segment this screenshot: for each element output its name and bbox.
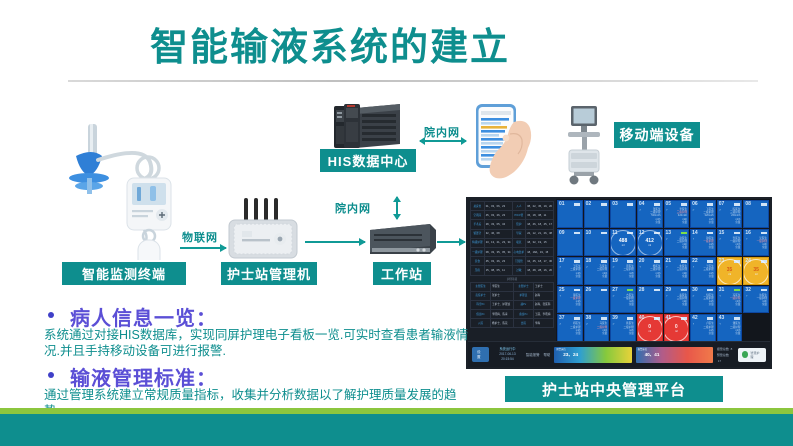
battery-icon — [601, 317, 607, 320]
bed-cell[interactable]: 25♀黄医生一级护理ml/h余量 — [557, 286, 583, 314]
link-label-iot: 物联网 — [182, 229, 218, 245]
gender-icon: ♂ — [612, 265, 615, 269]
bottom-teal-band — [0, 414, 793, 446]
patient-summary-table: 总床位01、03、06、23入人08、22、45、19、20空闲床45、03、2… — [470, 201, 554, 276]
table-cell: 18、32、19、15 — [526, 238, 554, 247]
table-row: 手术后28、33、05、34陪护18、46、18、45、17 — [471, 220, 554, 229]
bed-detail-lines: 卢医生二级护理ml/h余量 — [703, 322, 713, 335]
table-cell: 18、46、18、45、17 — [526, 220, 554, 229]
bed-detail-line: 余量 — [730, 303, 740, 306]
table-cell: 心电监护 — [512, 247, 526, 256]
bed-number: 38 — [586, 315, 592, 322]
table-cell: PICC管 — [512, 211, 526, 220]
bed-cell[interactable]: 30♂何医生三级护理ml/h余量 — [690, 286, 716, 314]
bed-cell[interactable]: 19♂周医生二级护理ml/h余量 — [610, 257, 636, 285]
battery-icon — [707, 317, 713, 320]
battery-icon — [627, 317, 633, 320]
table-cell: 责任护士 — [471, 291, 491, 300]
battery-icon — [627, 289, 633, 292]
table-cell: 18、18A、19、15 — [526, 247, 554, 256]
table-cell: 15、18、38、11 — [526, 211, 554, 220]
bed-number: 28 — [639, 287, 645, 294]
bed-number: 21 — [666, 258, 672, 265]
bed-number: 30 — [692, 287, 698, 294]
gender-icon: ♂ — [612, 294, 615, 298]
table-row: 一级护理08、33、35、05、34心电监护18、18A、19、15 — [471, 247, 554, 256]
bed-detail-line: 余量 — [703, 246, 713, 249]
table-row: 空闲床45、03、26、23PICC管15、18、38、11 — [471, 211, 554, 220]
gender-icon: ♂ — [612, 322, 615, 326]
node-label-terminal: 智能监测终端 — [62, 262, 186, 285]
bed-number: 17 — [559, 258, 565, 265]
bed-cell[interactable]: 43♀潘医生二级护理ml/h余量 — [717, 314, 743, 342]
bed-detail-lines: 杨医生二级护理ml/h余量 — [650, 265, 660, 278]
bed-detail-line: 余量 — [730, 246, 740, 249]
bed-detail-line: 余量 — [677, 221, 687, 224]
table-cell: 科室Pv — [471, 300, 491, 309]
table-cell: 45、03、26、23 — [484, 257, 512, 266]
bed-cell[interactable]: 42♀卢医生二级护理ml/h余量 — [690, 314, 716, 342]
bed-number: 04 — [639, 201, 645, 208]
bed-number: 20 — [639, 258, 645, 265]
battery-icon — [681, 203, 687, 206]
bed-detail-line: 余量 — [570, 332, 580, 335]
system-timestamp: 系统运行中 2017-06-13 20:15:54 — [493, 347, 522, 362]
bed-detail-line: 余量 — [624, 303, 634, 306]
table-cell: 出院 — [513, 319, 533, 328]
battery-icon — [654, 289, 660, 292]
bed-detail-lines: 马医生二级护理ml/h余量 — [597, 322, 607, 335]
bed-cell[interactable]: 38♂马医生二级护理ml/h余量 — [584, 314, 610, 342]
gender-icon: ♀ — [719, 294, 722, 298]
battery-icon — [627, 203, 633, 206]
bed-cell[interactable]: 28 — [637, 286, 663, 314]
table-cell: 01、03、06、23 — [484, 202, 512, 211]
table-row: 禁食45、03、26、23引流管12、45、18、17、36 — [471, 257, 554, 266]
bed-cell[interactable]: 21♀朱医生三级护理ml/h余量 — [664, 257, 690, 285]
bed-number: 02 — [586, 201, 592, 208]
staff-table: 主管医生李医生主管护士王护士责任护士张护士护理员赵梅科室Pv王护士、护理班副Pv… — [470, 282, 554, 329]
volume-unit: ml — [648, 244, 651, 247]
table-row: 总床位01、03、06、23入人08、22、45、19、20 — [471, 202, 554, 211]
alarm-beds-label: 报警床位 — [638, 348, 648, 351]
table-cell: 23、13、21、23、34 — [484, 238, 512, 247]
bed-cell[interactable]: 22♀于医生三级护理ml/h余量 — [690, 257, 716, 285]
bed-cell[interactable]: 2435ml — [743, 257, 769, 285]
volume-unit: ml — [728, 273, 731, 276]
bed-cell[interactable]: 04♂张医生二级护理500ml/hml/h余量 — [637, 200, 663, 228]
gender-icon: ♀ — [692, 322, 695, 326]
bed-detail-line: 余量 — [703, 275, 713, 278]
volume-gauge: 35ml — [717, 259, 743, 285]
bed-detail-line: 余量 — [624, 332, 634, 335]
bed-cell[interactable]: 03 — [610, 200, 636, 228]
table-cell: 备班Pv — [513, 310, 533, 319]
gender-icon: ♂ — [666, 237, 669, 241]
table-cell: 李晓梅、陈青 — [491, 310, 514, 319]
bed-number: 05 — [666, 201, 672, 208]
bed-number: 16 — [745, 230, 751, 237]
help-link[interactable]: 帮助 — [543, 352, 550, 357]
table-cell: 12、45、18、17、36 — [526, 257, 554, 266]
battery-icon — [681, 260, 687, 263]
volume-gauge: 0ml — [664, 316, 690, 342]
battery-icon — [574, 289, 580, 292]
table-cell: 一级护理 — [471, 247, 485, 256]
settings-button[interactable]: 设置 — [472, 347, 489, 362]
table-cell: 留置针 — [471, 229, 485, 238]
table-row: 入院杨护士、陈花出院李梅 — [471, 319, 554, 328]
battery-icon — [734, 203, 740, 206]
battery-icon — [627, 260, 633, 263]
gender-icon: ♀ — [745, 237, 748, 241]
table-cell: 副Pv — [513, 300, 533, 309]
table-cell: 杨护士、陈花 — [491, 319, 514, 328]
bed-detail-lines: 张医生二级护理500ml/hml/h余量 — [650, 208, 660, 224]
bed-detail-line: 余量 — [650, 221, 660, 224]
vendor-logo-text: 智慧护理 — [750, 351, 762, 359]
arrow-his-to-mobile — [420, 140, 466, 142]
bed-detail-lines: 许医生一级护理ml/h余量 — [757, 294, 767, 307]
battery-icon — [601, 260, 607, 263]
table-cell: 主管医生 — [471, 282, 491, 291]
arrow-host-to-workstation — [305, 241, 365, 243]
bed-cell[interactable]: 31♀冯医生一级护理ml/h余量 — [717, 286, 743, 314]
table-cell: 主管护士 — [513, 282, 533, 291]
volume-gauge: 35ml — [743, 259, 769, 285]
volume-unit: ml — [755, 273, 758, 276]
bed-number: 09 — [559, 230, 565, 237]
monitor-status-bar[interactable]: 设置 系统运行中 2017-06-13 20:15:54 智能报警 帮助 预警床… — [468, 341, 770, 367]
table-cell: 入人 — [512, 202, 526, 211]
table-cell: 28、33、05、34 — [484, 220, 512, 229]
gender-icon: ♂ — [559, 265, 562, 269]
table-cell: 值班Pv — [471, 310, 491, 319]
table-cell: 王护士 — [533, 282, 553, 291]
bed-cell[interactable]: 13♂赵医生二级护理ml/h余量 — [664, 229, 690, 257]
bed-cell[interactable]: 10 — [584, 229, 610, 257]
bed-cell[interactable]: 32♀许医生一级护理ml/h余量 — [743, 286, 769, 314]
table-cell: 陪护 — [512, 220, 526, 229]
infusion-terminal-illustration — [58, 120, 183, 260]
bed-detail-lines: 朱医生三级护理ml/h余量 — [677, 265, 687, 278]
warning-total-value: 17 — [718, 359, 721, 363]
volume-gauge: 488ml — [610, 230, 636, 256]
bed-number: 15 — [719, 230, 725, 237]
table-cell: 导尿 — [512, 229, 526, 238]
bed-cell[interactable]: 05♀李医生三级护理420ml/hml/h余量 — [664, 200, 690, 228]
nurse-station-host-illustration — [227, 198, 299, 260]
bed-detail-line: 余量 — [570, 303, 580, 306]
bed-number: 27 — [612, 287, 618, 294]
table-cell: 特级护理 — [471, 238, 485, 247]
table-row: 科室Pv王护士、护理班副Pv赵梅、张医科 — [471, 300, 554, 309]
central-management-monitor[interactable]: 总床位01、03、06、23入人08、22、45、19、20空闲床45、03、2… — [466, 197, 772, 369]
bed-detail-lines: 赵医生二级护理ml/h余量 — [677, 237, 687, 250]
bed-cell[interactable]: 37♂邓医生二级护理ml/h余量 — [557, 314, 583, 342]
bed-cell[interactable]: 20♀杨医生二级护理ml/h余量 — [637, 257, 663, 285]
table-row: 压疮15、08、05、11过敏18、48、28、16、20 — [471, 266, 554, 275]
bed-cell[interactable]: 27♂方医生一级护理ml/h余量 — [610, 286, 636, 314]
arrow-workstation-to-platform — [437, 241, 465, 243]
alarm-beds-bar: 报警床位 40、41 — [636, 347, 713, 363]
bed-detail-lines: 孙医生一级护理ml/h余量 — [703, 237, 713, 250]
bed-detail-line: 余量 — [703, 332, 713, 335]
gender-icon: ♀ — [666, 208, 669, 212]
table-cell: 李梅 — [533, 319, 553, 328]
slide-root: 智能输液系统的建立 智能监测终端 物联网 — [0, 0, 793, 446]
bed-number: 07 — [719, 201, 725, 208]
bed-number: 42 — [692, 315, 698, 322]
bed-number: 14 — [692, 230, 698, 237]
bed-cell[interactable]: 09 — [557, 229, 583, 257]
table-cell: 禁食 — [471, 257, 485, 266]
table-cell: 压疮 — [471, 266, 485, 275]
bed-number: 26 — [586, 287, 592, 294]
gender-icon: ♂ — [692, 208, 695, 212]
bed-number: 29 — [666, 287, 672, 294]
table-cell: 32、46、08 — [484, 229, 512, 238]
table-row: 值班Pv李晓梅、陈青备班Pv王丽、李晓梅 — [471, 310, 554, 319]
table-cell: 王护士、护理班 — [491, 300, 514, 309]
bed-detail-line: 余量 — [650, 275, 660, 278]
bed-cell[interactable]: 410ml — [664, 314, 690, 342]
bed-detail-lines: 李医生一级护理ml/h余量 — [730, 237, 740, 250]
bed-number: 03 — [612, 201, 618, 208]
bed-detail-lines: 王医生二级护理ml/h余量 — [570, 265, 580, 278]
gender-icon: ♀ — [719, 322, 722, 326]
bed-number: 37 — [559, 315, 565, 322]
battery-icon — [707, 203, 713, 206]
leaf-icon — [742, 351, 749, 358]
bed-cell[interactable]: 400ml — [637, 314, 663, 342]
table-row: 责任护士张护士护理员赵梅 — [471, 291, 554, 300]
bed-number: 31 — [719, 287, 725, 294]
bed-detail-lines: 黄医生一级护理ml/h余量 — [570, 294, 580, 307]
table-cell: 08、33、35、05、34 — [484, 247, 512, 256]
bed-cell[interactable]: 15♂李医生一级护理ml/h余量 — [717, 229, 743, 257]
bed-detail-lines: 周医生二级护理ml/h余量 — [624, 265, 634, 278]
battery-icon — [601, 203, 607, 206]
bed-detail-lines: 秦医生三级护理ml/h余量 — [677, 294, 687, 307]
gender-icon: ♀ — [745, 294, 748, 298]
battery-icon — [761, 203, 767, 206]
arrow-his-to-workstation — [396, 197, 398, 219]
timestamp-value: 2017-06-13 20:15:54 — [499, 352, 515, 361]
bullet-body-1: 系统通过对接HIS数据库，实现同屏护理电子看板一览.可实时查看患者输液情况.并且… — [44, 327, 474, 359]
bed-number: 01 — [559, 201, 565, 208]
workstation-illustration — [366, 222, 438, 258]
bed-detail-lines: 方医生一级护理ml/h余量 — [624, 294, 634, 307]
table-cell: 08、22、45、19、20 — [526, 202, 554, 211]
warning-total-label: 预警总数 — [717, 353, 729, 357]
volume-unit: ml — [622, 244, 625, 247]
arrow-terminal-to-host — [180, 247, 226, 249]
table-cell: 吸氧 — [512, 238, 526, 247]
vendor-logo: 智慧护理 — [738, 348, 767, 362]
bed-detail-lines: 韩医生二级护理ml/h余量 — [624, 322, 634, 335]
bed-detail-lines: 于医生三级护理ml/h余量 — [703, 265, 713, 278]
bed-detail-lines: 陈医生三级护理260ml/hml/h余量 — [730, 208, 740, 224]
battery-icon — [761, 289, 767, 292]
bed-detail-lines: 李医生三级护理420ml/hml/h余量 — [677, 208, 687, 224]
gender-icon: ♀ — [559, 294, 562, 298]
table-cell: 引流管 — [512, 257, 526, 266]
battery-icon — [654, 260, 660, 263]
bed-detail-line: 余量 — [757, 246, 767, 249]
bed-cell[interactable]: 01 — [557, 200, 583, 228]
bed-cell[interactable]: 11488ml — [610, 229, 636, 257]
table-cell: 空闲床 — [471, 211, 485, 220]
gender-icon: ♂ — [639, 208, 642, 212]
node-label-his-data-center: HIS数据中心 — [320, 149, 416, 172]
volume-gauge: 0ml — [637, 316, 663, 342]
battery-icon — [574, 232, 580, 235]
table-row: 特级护理23、13、21、23、34吸氧18、32、19、15 — [471, 238, 554, 247]
node-label-nurse-station-host: 护士站管理机 — [221, 262, 317, 285]
alarm-total-value: 8 — [731, 347, 733, 351]
battery-icon — [734, 232, 740, 235]
bed-cell[interactable]: 06♂下医生二级护理320ml/hml/h余量 — [690, 200, 716, 228]
battery-icon — [707, 232, 713, 235]
alarm-counters: 报警总数 8 预警总数 17 — [717, 346, 734, 364]
title-divider — [68, 80, 758, 82]
battery-icon — [761, 232, 767, 235]
table-cell: 18、48、28、16、20 — [526, 266, 554, 275]
bed-number: 32 — [745, 287, 751, 294]
warning-beds-value: 23、24 — [563, 352, 578, 358]
battery-icon — [574, 260, 580, 263]
bed-detail-lines: 潘医生二级护理ml/h余量 — [730, 322, 740, 335]
bed-cell[interactable]: 08 — [743, 200, 769, 228]
bed-detail-line: 余量 — [624, 275, 634, 278]
gender-icon: ♂ — [719, 208, 722, 212]
bed-detail-line: 余量 — [757, 303, 767, 306]
bed-cell[interactable]: 07♂陈医生三级护理260ml/hml/h余量 — [717, 200, 743, 228]
bullet-marker-2 — [48, 372, 54, 378]
gender-icon: ♀ — [692, 237, 695, 241]
link-label-lan-his-mobile: 院内网 — [424, 124, 460, 140]
bed-cell[interactable]: 26 — [584, 286, 610, 314]
table-row: 主管医生李医生主管护士王护士 — [471, 282, 554, 291]
bed-number: 10 — [586, 230, 592, 237]
battery-icon — [707, 260, 713, 263]
table-cell: 赵梅、张医科 — [533, 300, 553, 309]
bullet-marker-1 — [48, 312, 54, 318]
bed-number: 06 — [692, 201, 698, 208]
bed-cell[interactable]: 29♀秦医生三级护理ml/h余量 — [664, 286, 690, 314]
bed-cell[interactable]: 14♀孙医生一级护理ml/h余量 — [690, 229, 716, 257]
bed-detail-lines: 邓医生二级护理ml/h余量 — [570, 322, 580, 335]
gender-icon: ♂ — [719, 237, 722, 241]
bed-detail-lines: 吴医生一级护理ml/h余量 — [757, 237, 767, 250]
battery-icon — [681, 232, 687, 235]
bed-number: 18 — [586, 258, 592, 265]
table-cell: 张护士 — [491, 291, 514, 300]
battery-icon — [734, 289, 740, 292]
bed-detail-lines: 孔医生二级护理ml/h余量 — [597, 265, 607, 278]
gender-icon: ♂ — [559, 322, 562, 326]
bed-cell[interactable]: 16♀吴医生一级护理ml/h余量 — [743, 229, 769, 257]
battery-icon — [681, 289, 687, 292]
bed-cell[interactable]: 17♂王医生二级护理ml/h余量 — [557, 257, 583, 285]
table-cell: 手术后 — [471, 220, 485, 229]
bed-detail-line: 余量 — [703, 303, 713, 306]
alarm-beds-value: 40、41 — [645, 352, 660, 358]
bed-cell[interactable]: 02 — [584, 200, 610, 228]
bed-detail-lines: 何医生三级护理ml/h余量 — [703, 294, 713, 307]
table-row: 留置针32、46、08导尿22、12、21、26、38 — [471, 229, 554, 238]
table-cell: 赵梅 — [533, 291, 553, 300]
bed-detail-line: 余量 — [703, 221, 713, 224]
bed-detail-lines: 冯医生一级护理ml/h余量 — [730, 294, 740, 307]
bed-detail-line: 余量 — [730, 221, 740, 224]
alarm-total-label: 报警总数 — [717, 347, 729, 351]
bed-number: 13 — [666, 230, 672, 237]
his-data-center-illustration — [332, 104, 404, 150]
node-label-central-platform: 护士站中央管理平台 — [505, 376, 723, 402]
table-cell: 过敏 — [512, 266, 526, 275]
table-cell: 总床位 — [471, 202, 485, 211]
node-label-workstation: 工作站 — [373, 262, 431, 285]
battery-icon — [574, 317, 580, 320]
table-cell: 李医生 — [491, 282, 514, 291]
bed-number: 08 — [745, 201, 751, 208]
battery-icon — [734, 317, 740, 320]
bed-number: 43 — [719, 315, 725, 322]
table-cell: 15、08、05、11 — [484, 266, 512, 275]
gender-icon: ♀ — [666, 294, 669, 298]
node-label-mobile-device: 移动端设备 — [614, 122, 700, 148]
volume-unit: ml — [648, 330, 651, 333]
gender-icon: ♀ — [666, 265, 669, 269]
bed-detail-line: 余量 — [597, 332, 607, 335]
mobile-phone-illustration — [470, 104, 536, 182]
bed-detail-lines: 下医生二级护理320ml/hml/h余量 — [703, 208, 713, 224]
battery-icon — [601, 232, 607, 235]
bed-cell[interactable]: 12412ml — [637, 229, 663, 257]
gender-icon: ♂ — [586, 322, 589, 326]
link-label-lan-his-workstation: 院内网 — [335, 200, 371, 216]
bed-detail-line: 余量 — [730, 332, 740, 335]
bed-number: 25 — [559, 287, 565, 294]
bed-number: 39 — [612, 315, 618, 322]
battery-icon — [654, 203, 660, 206]
bed-cell[interactable]: 2335ml — [717, 257, 743, 285]
alarm-link[interactable]: 智能报警 — [526, 352, 540, 357]
bed-detail-line: 余量 — [570, 275, 580, 278]
page-title: 智能输液系统的建立 — [150, 16, 510, 71]
table-cell: 45、03、26、23 — [484, 211, 512, 220]
table-cell: 22、12、21、26、38 — [526, 229, 554, 238]
bed-cell[interactable]: 39♂韩医生二级护理ml/h余量 — [610, 314, 636, 342]
mobile-cart-illustration — [558, 106, 610, 186]
bed-grid[interactable]: 01020304♂张医生二级护理500ml/hml/h余量05♀李医生三级护理4… — [556, 199, 770, 343]
battery-icon — [601, 289, 607, 292]
bed-number: 19 — [612, 258, 618, 265]
warning-beds-label: 预警床位 — [556, 348, 566, 351]
bed-number: 22 — [692, 258, 698, 265]
bed-detail-line: 余量 — [677, 303, 687, 306]
warning-beds-bar: 预警床位 23、24 — [554, 347, 631, 363]
bed-detail-line: 余量 — [677, 246, 687, 249]
bed-cell[interactable]: 18♂孔医生二级护理ml/h余量 — [584, 257, 610, 285]
bed-cell — [743, 314, 769, 342]
battery-icon — [707, 289, 713, 292]
gender-icon: ♀ — [639, 265, 642, 269]
table-cell: 护理员 — [513, 291, 533, 300]
bed-detail-line: 余量 — [677, 275, 687, 278]
